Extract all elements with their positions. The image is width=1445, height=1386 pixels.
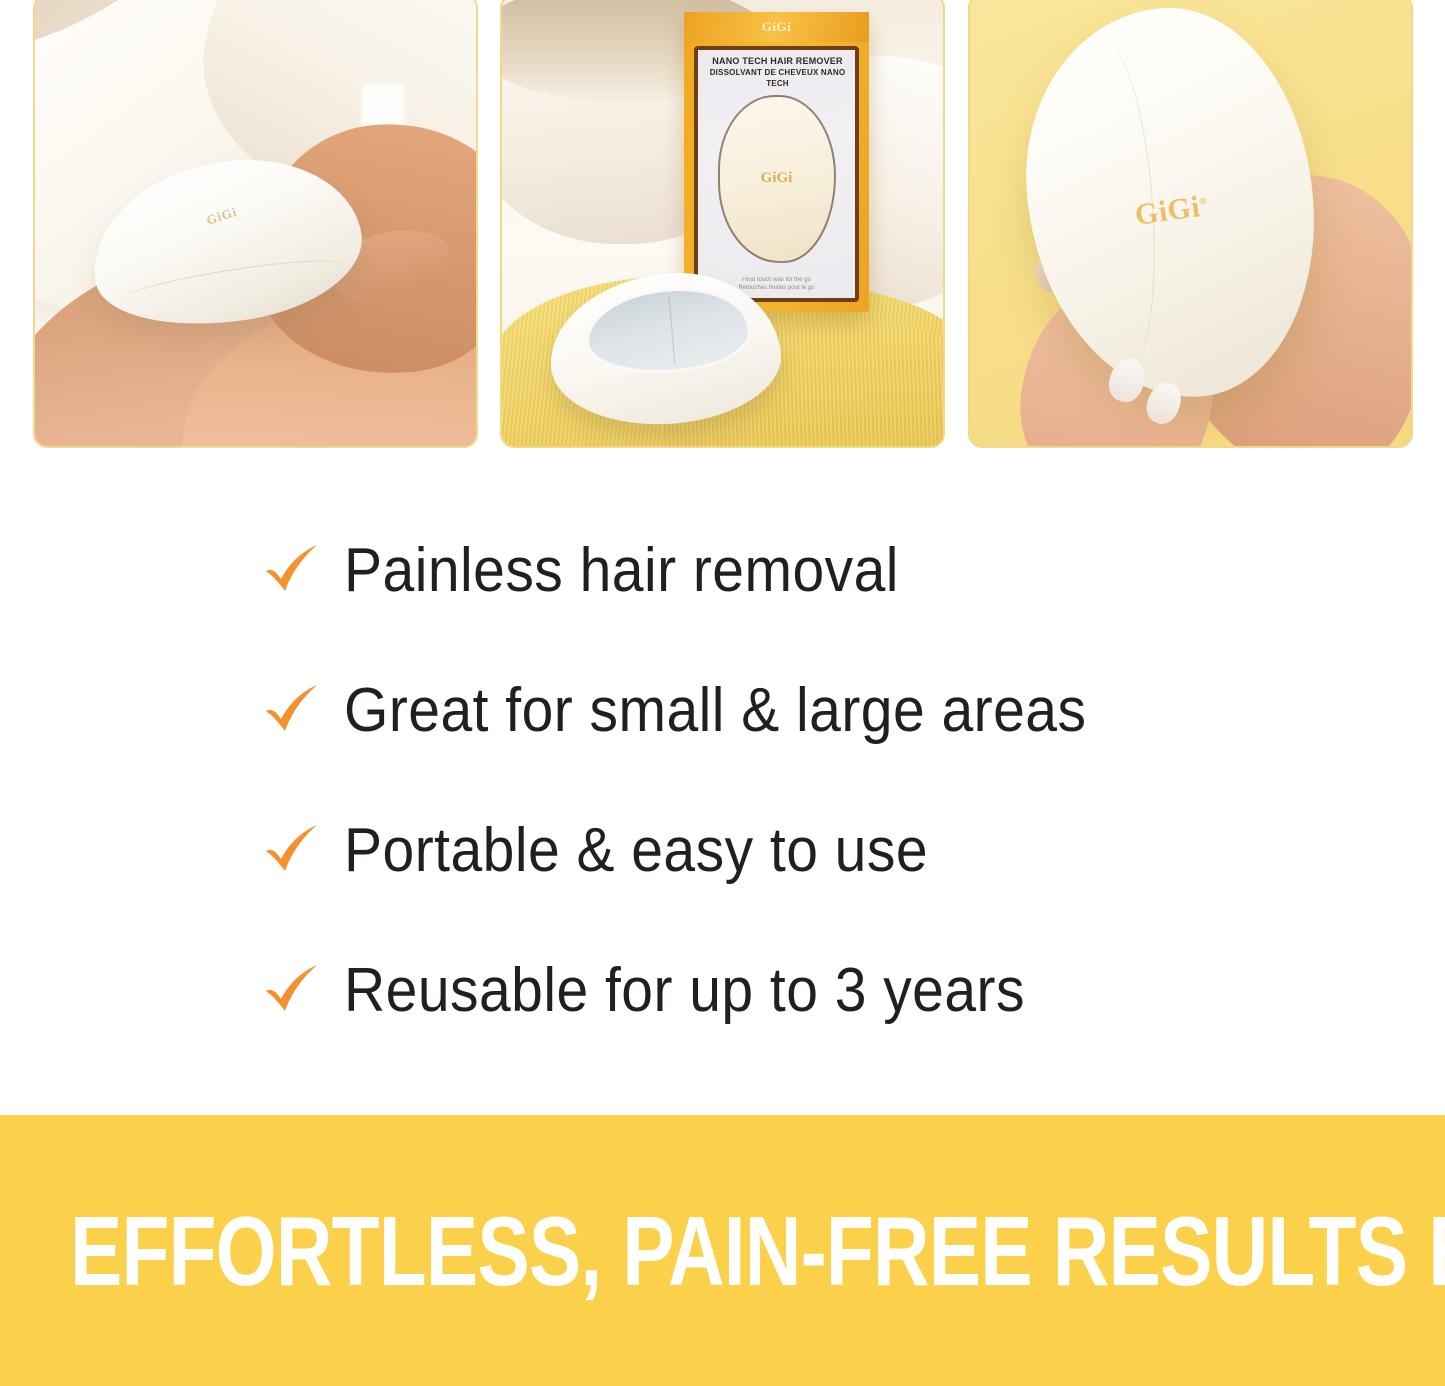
product-photo-strip: GiGi GiGi NANO TECH HAIR REMOVER DISSOLV… bbox=[0, 0, 1445, 452]
bottom-banner: EFFORTLESS, PAIN-FREE RESULTS EVERY TIME… bbox=[0, 1115, 1445, 1386]
check-icon bbox=[262, 681, 322, 739]
boxed-device: GiGi bbox=[718, 95, 836, 263]
benefit-label: Portable & easy to use bbox=[344, 815, 928, 886]
benefit-label: Reusable for up to 3 years bbox=[344, 955, 1025, 1026]
check-icon bbox=[262, 541, 322, 599]
benefit-label: Painless hair removal bbox=[344, 535, 899, 606]
product-photo-panel-3: GiGi® bbox=[968, 0, 1413, 448]
box-display-window: NANO TECH HAIR REMOVER DISSOLVANT DE CHE… bbox=[694, 46, 859, 302]
box-top-logo: GiGi bbox=[684, 12, 869, 42]
benefit-label: Great for small & large areas bbox=[344, 675, 1086, 746]
gigi-logo: GiGi bbox=[205, 204, 240, 229]
device-nano-pad bbox=[582, 282, 754, 380]
box-headline-fr: DISSOLVANT DE CHEVEUX NANO TECH bbox=[704, 67, 851, 89]
box-headline: NANO TECH HAIR REMOVER DISSOLVANT DE CHE… bbox=[704, 56, 851, 89]
product-photo-panel-2: GiGi NANO TECH HAIR REMOVER DISSOLVANT D… bbox=[500, 0, 945, 448]
box-headline-en: NANO TECH HAIR REMOVER bbox=[704, 56, 851, 67]
check-icon bbox=[262, 821, 322, 879]
product-photo-panel-1: GiGi bbox=[33, 0, 478, 448]
trademark-symbol: ® bbox=[1198, 196, 1207, 208]
banner-headline: EFFORTLESS, PAIN-FREE RESULTS EVERY TIME… bbox=[70, 1202, 1445, 1300]
gigi-logo: GiGi bbox=[761, 170, 793, 187]
benefit-item: Portable & easy to use bbox=[0, 780, 1445, 920]
check-icon bbox=[262, 961, 322, 1019]
benefit-item: Great for small & large areas bbox=[0, 640, 1445, 780]
benefits-list: Painless hair removal Great for small & … bbox=[0, 500, 1445, 1060]
benefit-item: Reusable for up to 3 years bbox=[0, 920, 1445, 1060]
retail-box: GiGi NANO TECH HAIR REMOVER DISSOLVANT D… bbox=[684, 12, 869, 312]
benefit-item: Painless hair removal bbox=[0, 500, 1445, 640]
